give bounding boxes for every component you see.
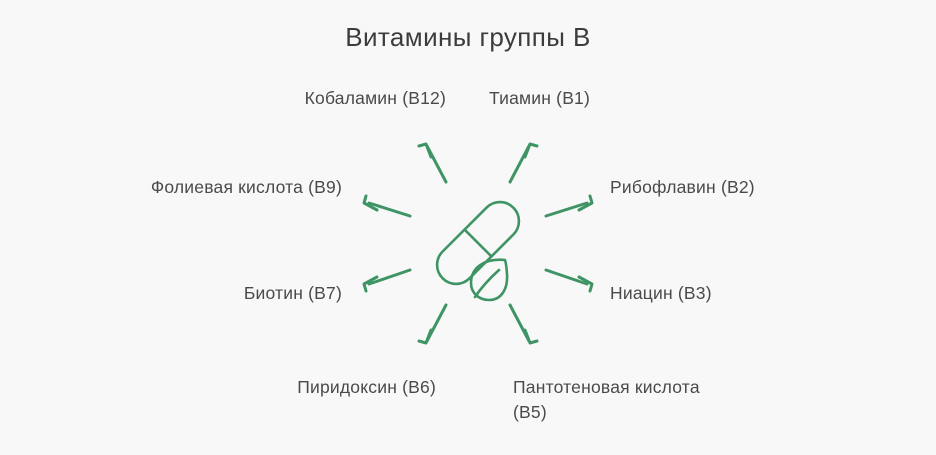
vitamin-label-b5: Пантотеновая кислота (B5)	[513, 375, 728, 425]
arrow-to-b3	[546, 270, 592, 291]
arrow-to-b9	[364, 196, 410, 216]
vitamin-label-b9: Фолиевая кислота (B9)	[140, 175, 342, 200]
arrow-to-b2	[546, 196, 592, 216]
vitamin-label-b12: Кобаламин (B12)	[196, 86, 446, 111]
vitamin-label-b1: Тиамин (B1)	[489, 86, 699, 111]
vitamin-b-radial-diagram: Витамины группы B	[0, 0, 936, 455]
vitamin-label-b7: Биотин (B7)	[140, 281, 342, 306]
vitamin-label-b6: Пиридоксин (B6)	[236, 375, 436, 400]
radial-arrows-group	[0, 0, 936, 455]
arrow-to-b12	[419, 144, 446, 182]
vitamin-label-b2: Рибофлавин (B2)	[610, 175, 800, 200]
pill-capsule-leaf-icon	[429, 194, 527, 300]
arrow-to-b6	[419, 305, 446, 343]
page-title: Витамины группы B	[0, 22, 936, 53]
arrow-to-b5	[510, 305, 537, 343]
arrow-to-b7	[364, 270, 410, 291]
arrow-to-b1	[510, 144, 537, 182]
vitamin-label-b3: Ниацин (B3)	[610, 281, 800, 306]
